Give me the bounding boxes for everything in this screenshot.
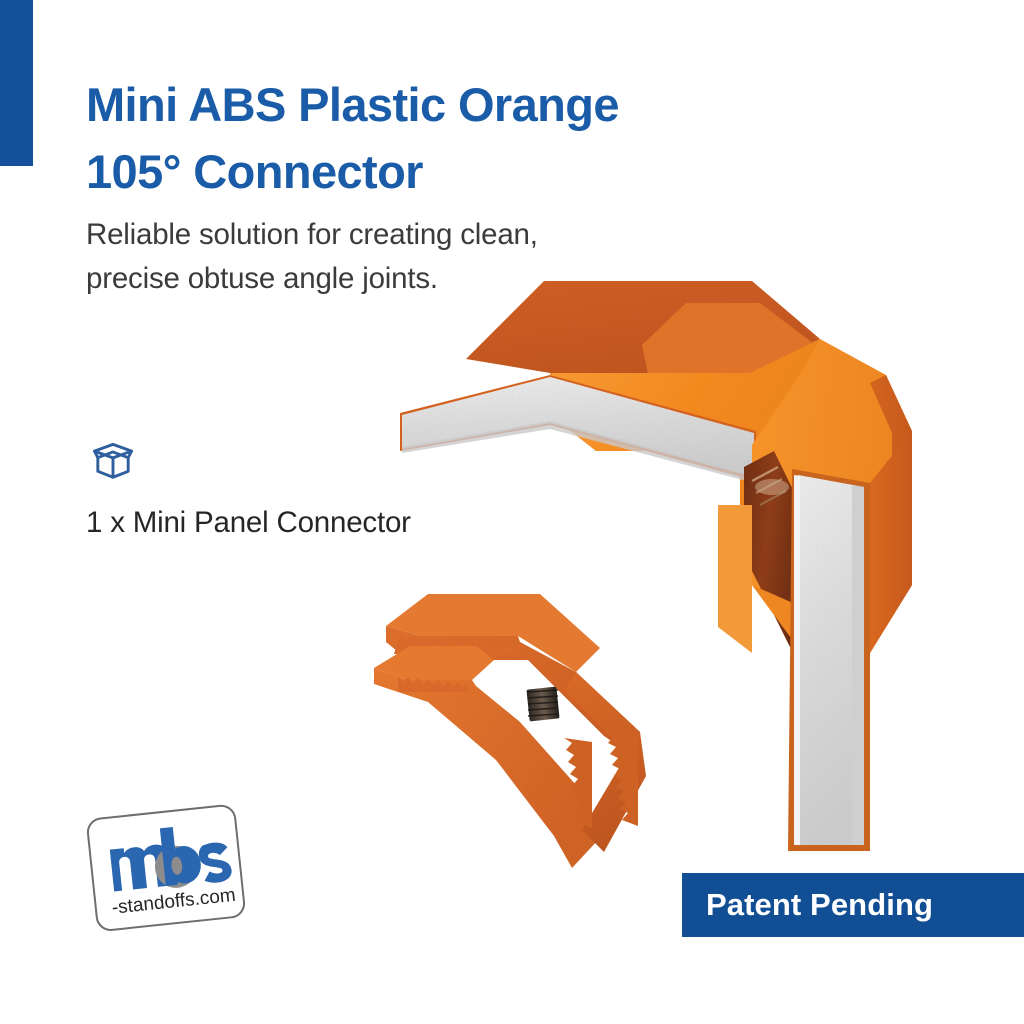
page-title: Mini ABS Plastic Orange 105° Connector bbox=[86, 72, 806, 205]
connector-inner-jaw bbox=[718, 505, 752, 653]
open-box-icon bbox=[86, 430, 411, 484]
left-accent-bar bbox=[0, 0, 33, 166]
package-contents: 1 x Mini Panel Connector bbox=[86, 430, 411, 540]
package-contents-label: 1 x Mini Panel Connector bbox=[86, 506, 411, 540]
panel-lower-highlight bbox=[794, 475, 800, 845]
mbs-standoffs-logo[interactable]: -standoffs.com bbox=[78, 798, 253, 938]
patent-pending-label: Patent Pending bbox=[706, 887, 933, 923]
lower-jaw-body bbox=[374, 668, 598, 868]
patent-pending-banner: Patent Pending bbox=[682, 873, 1024, 937]
poster-canvas: Mini ABS Plastic Orange 105° Connector R… bbox=[0, 0, 1024, 1024]
set-screw-threaded bbox=[526, 687, 559, 722]
product-image-bare-connector bbox=[368, 580, 678, 880]
